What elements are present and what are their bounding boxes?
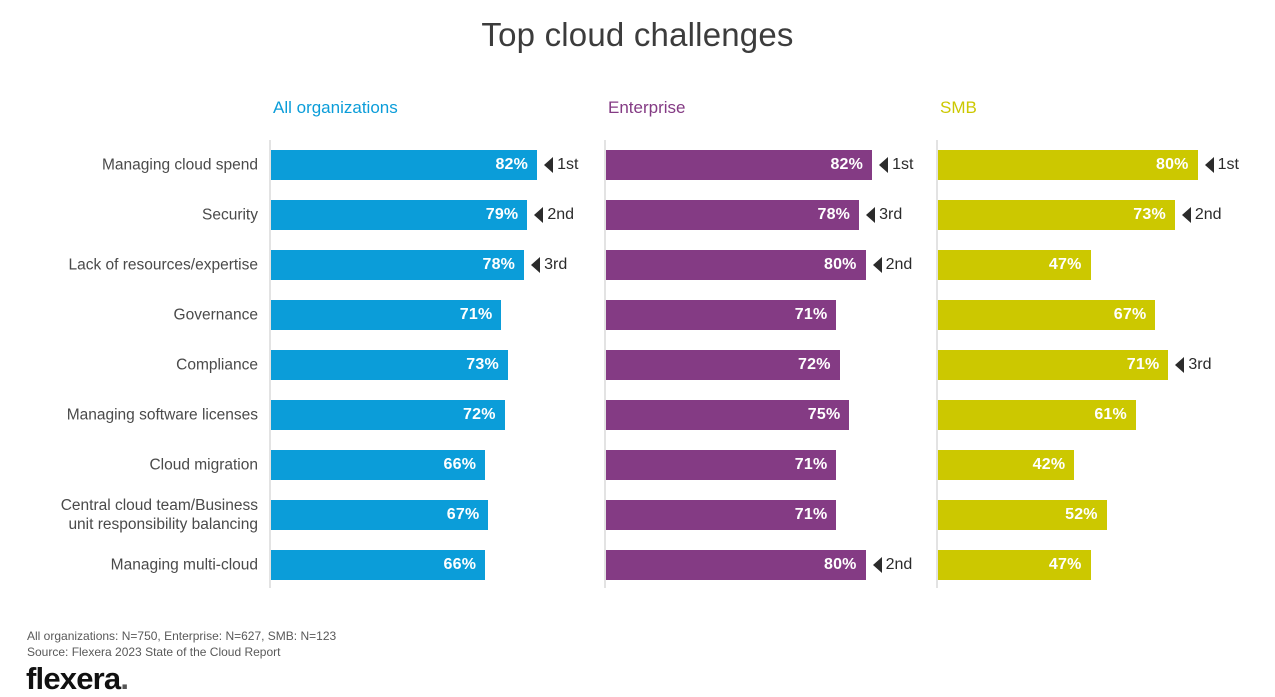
bar-value-label: 52% — [1065, 506, 1098, 524]
bar[interactable]: 42% — [938, 450, 1074, 480]
chart-row: Security79%2nd78%3rd73%2nd — [0, 190, 1275, 240]
bar-group-enterprise: 82%1st — [606, 150, 872, 180]
rank-marker: 1st — [544, 156, 578, 174]
bar[interactable]: 47% — [938, 550, 1091, 580]
bar-group-enterprise: 78%3rd — [606, 200, 859, 230]
rank-marker: 2nd — [873, 256, 913, 274]
bar-value-label: 82% — [495, 156, 528, 174]
bar-group-smb: 73%2nd — [938, 200, 1175, 230]
rank-marker: 2nd — [873, 556, 913, 574]
bar-value-label: 42% — [1033, 456, 1066, 474]
triangle-left-icon — [879, 157, 888, 173]
bar-value-label: 80% — [1156, 156, 1189, 174]
bar-chart-plot-area: Managing cloud spend82%1st82%1st80%1stSe… — [0, 140, 1275, 590]
bar-value-label: 80% — [824, 256, 857, 274]
bar[interactable]: 80%2nd — [606, 250, 866, 280]
bar[interactable]: 67% — [271, 500, 488, 530]
rank-label: 3rd — [544, 256, 567, 274]
bar[interactable]: 80%2nd — [606, 550, 866, 580]
logo-text: flexera — [26, 661, 120, 696]
bar[interactable]: 80%1st — [938, 150, 1198, 180]
bar-group-all-organizations: 67% — [271, 500, 488, 530]
rank-label: 1st — [892, 156, 913, 174]
bar-group-enterprise: 72% — [606, 350, 840, 380]
bar[interactable]: 61% — [938, 400, 1136, 430]
bar-value-label: 66% — [444, 556, 477, 574]
category-label: Managing multi-cloud — [0, 556, 258, 575]
bar-value-label: 75% — [808, 406, 841, 424]
bar-value-label: 82% — [830, 156, 863, 174]
bar-value-label: 67% — [447, 506, 480, 524]
bar[interactable]: 67% — [938, 300, 1155, 330]
bar-group-enterprise: 75% — [606, 400, 849, 430]
bar-group-smb: 52% — [938, 500, 1107, 530]
bar[interactable]: 78%3rd — [271, 250, 524, 280]
rank-marker: 3rd — [1175, 356, 1211, 374]
bar-value-label: 47% — [1049, 556, 1082, 574]
rank-marker: 3rd — [866, 206, 902, 224]
triangle-left-icon — [873, 557, 882, 573]
bar-value-label: 47% — [1049, 256, 1082, 274]
bar[interactable]: 71% — [271, 300, 501, 330]
bar-value-label: 67% — [1114, 306, 1147, 324]
bar-value-label: 78% — [817, 206, 850, 224]
chart-row: Managing software licenses72%75%61% — [0, 390, 1275, 440]
bar-group-all-organizations: 79%2nd — [271, 200, 527, 230]
bar-group-all-organizations: 71% — [271, 300, 501, 330]
chart-row: Managing multi-cloud66%80%2nd47% — [0, 540, 1275, 590]
triangle-left-icon — [1182, 207, 1191, 223]
rank-label: 2nd — [547, 206, 574, 224]
bar-group-smb: 61% — [938, 400, 1136, 430]
bar-group-enterprise: 71% — [606, 450, 836, 480]
bar-value-label: 79% — [486, 206, 519, 224]
bar-group-all-organizations: 66% — [271, 550, 485, 580]
bar-group-smb: 42% — [938, 450, 1074, 480]
triangle-left-icon — [873, 257, 882, 273]
bar-value-label: 78% — [482, 256, 515, 274]
column-header-smb: SMB — [940, 98, 977, 118]
bar-value-label: 80% — [824, 556, 857, 574]
bar-value-label: 71% — [1127, 356, 1160, 374]
bar-value-label: 61% — [1094, 406, 1127, 424]
triangle-left-icon — [1205, 157, 1214, 173]
footnote-sample-sizes: All organizations: N=750, Enterprise: N=… — [27, 628, 336, 644]
bar-group-enterprise: 80%2nd — [606, 250, 866, 280]
bar-value-label: 66% — [444, 456, 477, 474]
triangle-left-icon — [531, 257, 540, 273]
bar[interactable]: 78%3rd — [606, 200, 859, 230]
category-label: Lack of resources/expertise — [0, 256, 258, 275]
rank-label: 2nd — [1195, 206, 1222, 224]
rank-label: 3rd — [879, 206, 902, 224]
bar-value-label: 71% — [795, 306, 828, 324]
chart-row: Lack of resources/expertise78%3rd80%2nd4… — [0, 240, 1275, 290]
bar[interactable]: 72% — [271, 400, 505, 430]
bar-group-all-organizations: 72% — [271, 400, 505, 430]
bar-group-all-organizations: 78%3rd — [271, 250, 524, 280]
bar[interactable]: 66% — [271, 450, 485, 480]
bar-group-all-organizations: 73% — [271, 350, 508, 380]
rank-label: 1st — [557, 156, 578, 174]
bar[interactable]: 71% — [606, 500, 836, 530]
bar[interactable]: 71%3rd — [938, 350, 1168, 380]
rank-marker: 3rd — [531, 256, 567, 274]
bar-value-label: 71% — [460, 306, 493, 324]
bar-group-enterprise: 71% — [606, 500, 836, 530]
column-header-enterprise: Enterprise — [608, 98, 685, 118]
bar[interactable]: 72% — [606, 350, 840, 380]
bar-group-all-organizations: 66% — [271, 450, 485, 480]
rank-label: 2nd — [886, 256, 913, 274]
bar[interactable]: 47% — [938, 250, 1091, 280]
page-title: Top cloud challenges — [0, 16, 1275, 54]
bar-group-smb: 71%3rd — [938, 350, 1168, 380]
category-label: Managing cloud spend — [0, 156, 258, 175]
bar-group-smb: 47% — [938, 250, 1091, 280]
bar-value-label: 72% — [463, 406, 496, 424]
bar[interactable]: 79%2nd — [271, 200, 527, 230]
bar-group-smb: 47% — [938, 550, 1091, 580]
category-label: Compliance — [0, 356, 258, 375]
bar-group-all-organizations: 82%1st — [271, 150, 537, 180]
chart-row: Managing cloud spend82%1st82%1st80%1st — [0, 140, 1275, 190]
bar-value-label: 72% — [798, 356, 831, 374]
flexera-logo: flexera. — [26, 663, 128, 695]
rank-marker: 1st — [879, 156, 913, 174]
bar[interactable]: 82%1st — [606, 150, 872, 180]
category-label: Central cloud team/Businessunit responsi… — [0, 496, 258, 534]
logo-dot: . — [120, 661, 128, 696]
chart-row: Compliance73%72%71%3rd — [0, 340, 1275, 390]
rank-marker: 2nd — [534, 206, 574, 224]
bar[interactable]: 71% — [606, 300, 836, 330]
bar-group-smb: 80%1st — [938, 150, 1198, 180]
bar-value-label: 73% — [1133, 206, 1166, 224]
rank-marker: 2nd — [1182, 206, 1222, 224]
chart-row: Cloud migration66%71%42% — [0, 440, 1275, 490]
bar-value-label: 71% — [795, 456, 828, 474]
bar[interactable]: 73%2nd — [938, 200, 1175, 230]
bar[interactable]: 71% — [606, 450, 836, 480]
triangle-left-icon — [544, 157, 553, 173]
bar[interactable]: 66% — [271, 550, 485, 580]
chart-row: Governance71%71%67% — [0, 290, 1275, 340]
category-label: Managing software licenses — [0, 406, 258, 425]
rank-marker: 1st — [1205, 156, 1239, 174]
column-header-all-organizations: All organizations — [273, 98, 398, 118]
bar-value-label: 71% — [795, 506, 828, 524]
rank-label: 1st — [1218, 156, 1239, 174]
bar[interactable]: 75% — [606, 400, 849, 430]
triangle-left-icon — [866, 207, 875, 223]
bar-group-enterprise: 71% — [606, 300, 836, 330]
rank-label: 3rd — [1188, 356, 1211, 374]
footnotes: All organizations: N=750, Enterprise: N=… — [27, 628, 336, 660]
bar[interactable]: 73% — [271, 350, 508, 380]
triangle-left-icon — [1175, 357, 1184, 373]
triangle-left-icon — [534, 207, 543, 223]
bar-value-label: 73% — [466, 356, 499, 374]
category-label: Governance — [0, 306, 258, 325]
footnote-source: Source: Flexera 2023 State of the Cloud … — [27, 644, 336, 660]
bar-group-smb: 67% — [938, 300, 1155, 330]
bar[interactable]: 82%1st — [271, 150, 537, 180]
category-label: Cloud migration — [0, 456, 258, 475]
rank-label: 2nd — [886, 556, 913, 574]
bar-group-enterprise: 80%2nd — [606, 550, 866, 580]
bar[interactable]: 52% — [938, 500, 1107, 530]
category-label: Security — [0, 206, 258, 225]
chart-row: Central cloud team/Businessunit responsi… — [0, 490, 1275, 540]
